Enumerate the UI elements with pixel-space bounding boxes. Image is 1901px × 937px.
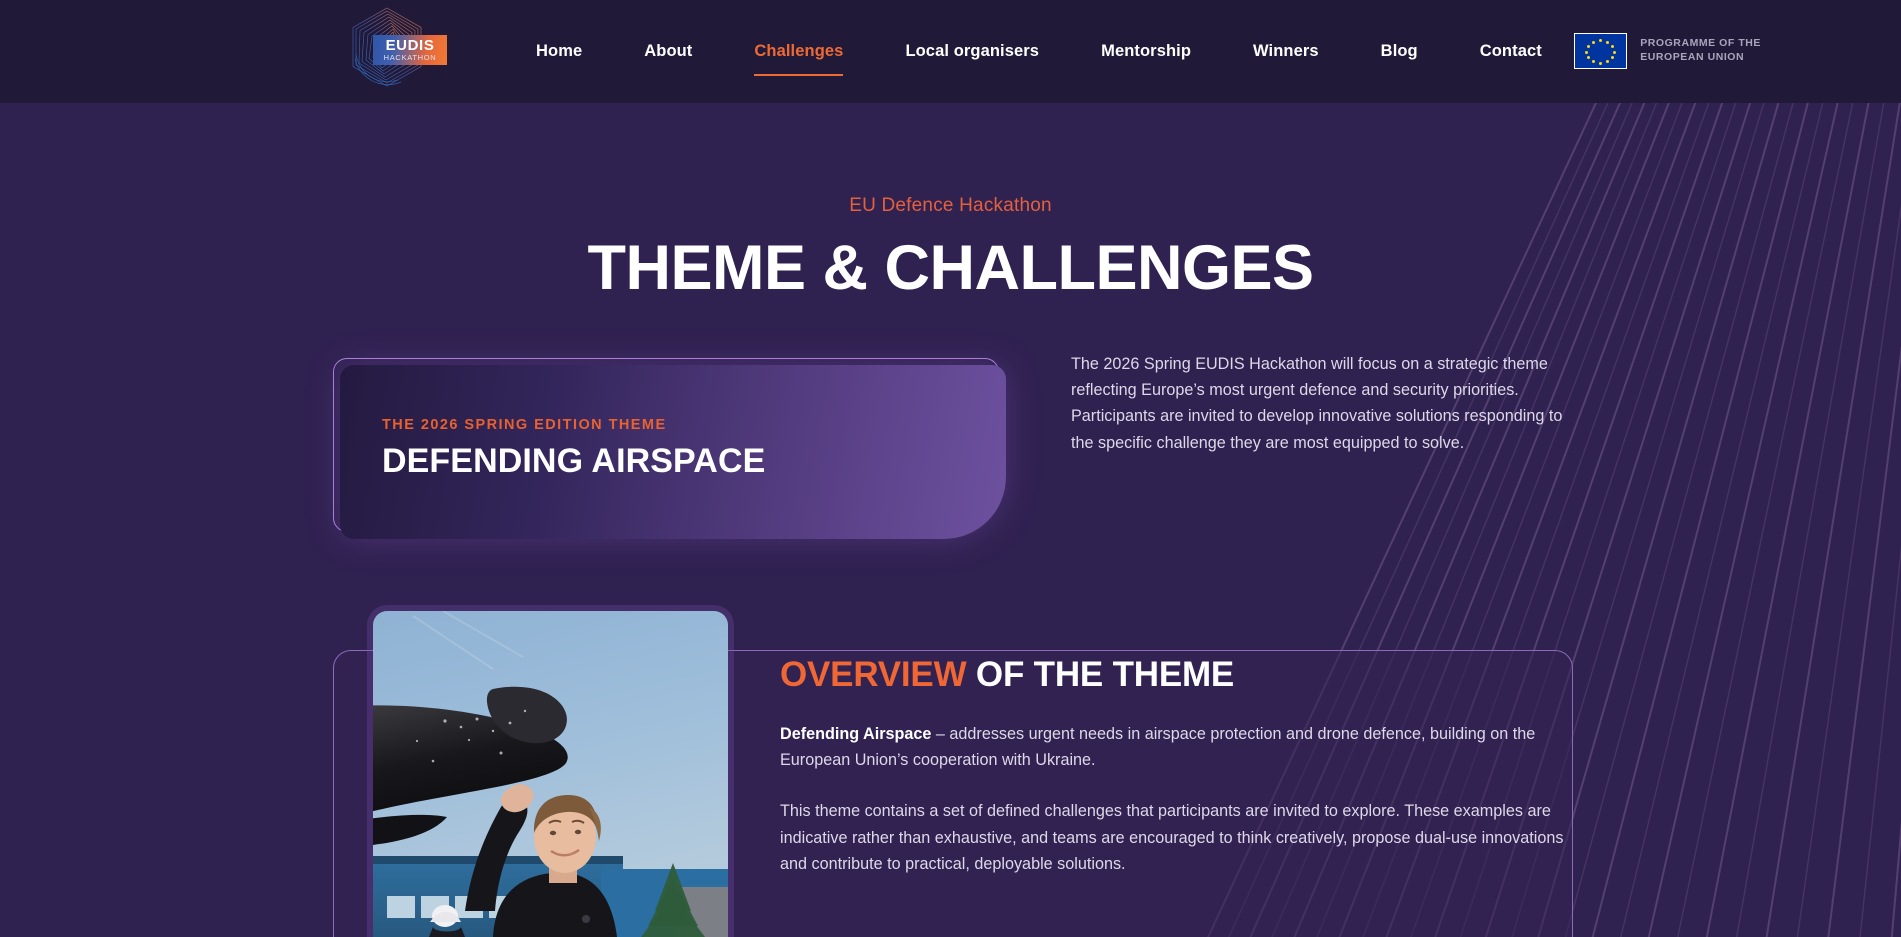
eu-programme-text: PROGRAMME OF THE EUROPEAN UNION bbox=[1640, 37, 1761, 65]
eu-text-line2: EUROPEAN UNION bbox=[1640, 51, 1761, 65]
nav-item-challenges[interactable]: Challenges bbox=[754, 36, 843, 67]
logo-text-secondary: HACKATHON bbox=[384, 54, 437, 62]
nav-item-contact[interactable]: Contact bbox=[1480, 36, 1542, 67]
main-navigation: Home About Challenges Local organisers M… bbox=[505, 0, 1573, 103]
theme-kicker: THE 2026 SPRING EDITION THEME bbox=[382, 417, 1006, 433]
overview-paragraph-1: Defending Airspace – addresses urgent ne… bbox=[780, 721, 1570, 773]
logo-badge: EUDIS HACKATHON bbox=[373, 35, 447, 65]
overview-heading-highlight: OVERVIEW bbox=[780, 655, 966, 694]
overview-content: OVERVIEW OF THE THEME Defending Airspace… bbox=[780, 655, 1570, 877]
overview-heading-rest: OF THE THEME bbox=[966, 655, 1234, 694]
nav-item-local-organisers[interactable]: Local organisers bbox=[905, 36, 1039, 67]
intro-paragraph: The 2026 Spring EUDIS Hackathon will foc… bbox=[1071, 351, 1583, 456]
nav-item-winners[interactable]: Winners bbox=[1253, 36, 1319, 67]
eu-text-line1: PROGRAMME OF THE bbox=[1640, 37, 1761, 51]
page-title: THEME & CHALLENGES bbox=[0, 232, 1901, 304]
logo-text-primary: EUDIS bbox=[386, 38, 435, 53]
nav-item-about[interactable]: About bbox=[644, 36, 692, 67]
overview-paragraph-1-bold: Defending Airspace bbox=[780, 725, 931, 743]
overview-heading: OVERVIEW OF THE THEME bbox=[780, 655, 1570, 695]
site-header: EUDIS HACKATHON Home About Challenges Lo… bbox=[0, 0, 1901, 103]
hero-eyebrow: EU Defence Hackathon bbox=[0, 195, 1901, 217]
hero-section: EU Defence Hackathon THEME & CHALLENGES bbox=[0, 103, 1901, 304]
nav-item-home[interactable]: Home bbox=[536, 36, 582, 67]
theme-banner-card: THE 2026 SPRING EDITION THEME DEFENDING … bbox=[340, 365, 1006, 539]
man-holding-black-drone-photo-icon bbox=[373, 611, 728, 937]
eudis-logo[interactable]: EUDIS HACKATHON bbox=[345, 4, 429, 94]
theme-banner: THE 2026 SPRING EDITION THEME DEFENDING … bbox=[333, 358, 1005, 538]
page-root: EUDIS HACKATHON Home About Challenges Lo… bbox=[0, 0, 1901, 937]
nav-item-blog[interactable]: Blog bbox=[1381, 36, 1418, 67]
theme-title: DEFENDING AIRSPACE bbox=[382, 442, 1006, 481]
eu-flag-icon bbox=[1574, 33, 1627, 69]
overview-paragraph-2: This theme contains a set of defined cha… bbox=[780, 798, 1570, 877]
overview-photo bbox=[373, 611, 728, 937]
eu-programme-badge: PROGRAMME OF THE EUROPEAN UNION bbox=[1574, 33, 1761, 69]
nav-item-mentorship[interactable]: Mentorship bbox=[1101, 36, 1191, 67]
